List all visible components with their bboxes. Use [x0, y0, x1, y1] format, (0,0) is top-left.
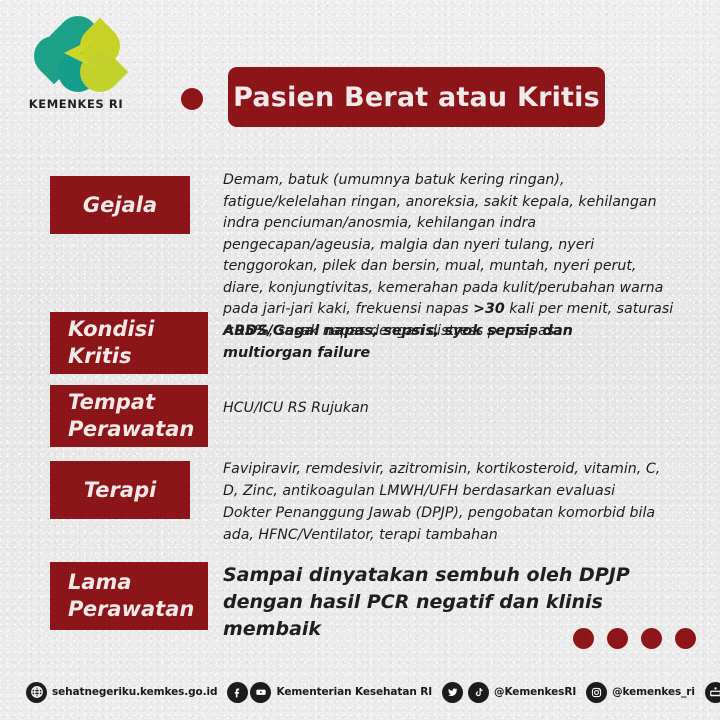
tiktok-icon[interactable] — [468, 682, 489, 703]
row-label-text: Tempat Perawatan — [68, 389, 208, 443]
decorative-dot — [675, 628, 696, 649]
row-label-terapi: Terapi — [50, 461, 190, 519]
emphasis-resp-rate: >30 — [473, 301, 505, 317]
youtube-icon[interactable] — [250, 682, 271, 703]
logo-mark — [34, 16, 118, 92]
row-content-terapi: Favipiravir, remdesivir, azitromisin, ko… — [223, 458, 663, 546]
decorative-dot — [573, 628, 594, 649]
footer-twitter-handle[interactable]: @KemenkesRI — [494, 686, 576, 698]
row-label-kondisi-kritis: Kondisi Kritis — [50, 312, 208, 374]
row-content-tempat-perawatan: HCU/ICU RS Rujukan — [223, 398, 643, 419]
footer-instagram-handle[interactable]: @kemenkes_ri — [612, 686, 695, 698]
row-label-text: Gejala — [50, 192, 190, 219]
page-title: Pasien Berat atau Kritis — [233, 82, 600, 113]
row-label-text: Terapi — [50, 477, 190, 504]
decorative-dot — [641, 628, 662, 649]
row-content-gejala: Demam, batuk (umumnya batuk kering ringa… — [223, 170, 675, 343]
logo-label: KEMENKES RI — [22, 97, 130, 111]
infographic-poster: KEMENKES RI Pasien Berat atau Kritis Gej… — [0, 0, 720, 720]
instagram-icon[interactable] — [586, 682, 607, 703]
row-label-text: Lama Perawatan — [68, 569, 208, 623]
decorative-dot-cluster — [573, 628, 696, 649]
row-label-lama-perawatan: Lama Perawatan — [50, 562, 208, 630]
decorative-dot — [607, 628, 628, 649]
row-label-tempat-perawatan: Tempat Perawatan — [50, 385, 208, 447]
row-label-gejala: Gejala — [50, 176, 190, 234]
footer-website[interactable]: sehatnegeriku.kemkes.go.id — [52, 686, 217, 698]
kemenkes-logo: KEMENKES RI — [22, 16, 130, 111]
header-bullet-dot — [181, 88, 203, 110]
twitter-icon[interactable] — [442, 682, 463, 703]
page-title-box: Pasien Berat atau Kritis — [228, 67, 605, 127]
footer-bar: sehatnegeriku.kemkes.go.id Kementerian K… — [0, 664, 720, 720]
row-content-kondisi-kritis: ARDS/Gagal napas, sepsis, syok sepsis da… — [223, 320, 643, 365]
radio-icon[interactable] — [705, 682, 720, 703]
footer-social-name[interactable]: Kementerian Kesehatan RI — [276, 686, 432, 698]
row-label-text: Kondisi Kritis — [68, 316, 208, 370]
globe-icon — [26, 682, 47, 703]
facebook-icon[interactable] — [227, 682, 248, 703]
